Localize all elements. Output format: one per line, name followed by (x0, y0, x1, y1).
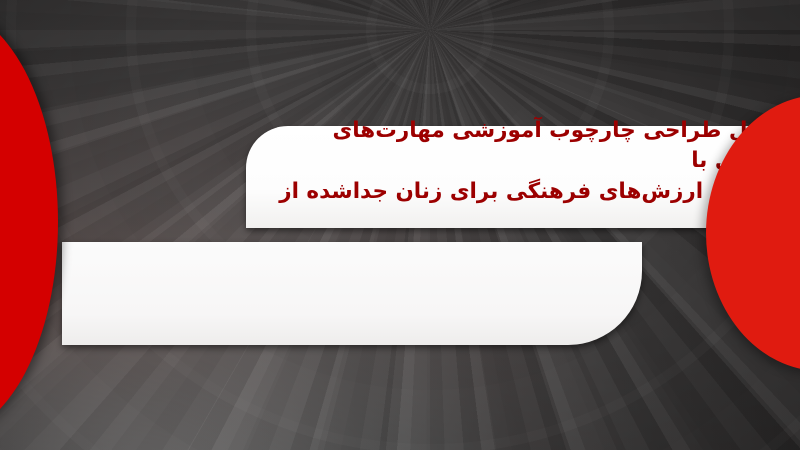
content-body-text (62, 242, 642, 345)
content-panel (62, 242, 642, 345)
presentation-slide: کامل طراحی چارچوب آموزشی مهارت‌های زندگی… (0, 0, 800, 450)
